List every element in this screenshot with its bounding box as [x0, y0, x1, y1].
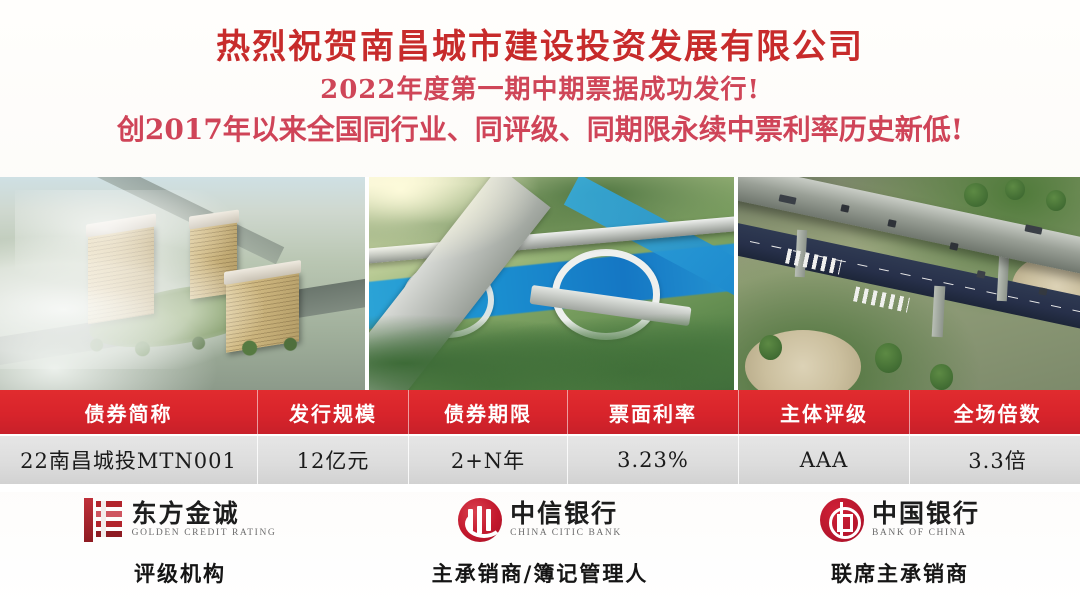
table-cell-issue-size: 12亿元 [258, 436, 409, 484]
citic-bank-role: 主承销商/簿记管理人 [432, 558, 649, 588]
headline-line-1: 热烈祝贺南昌城市建设投资发展有限公司 [0, 26, 1080, 68]
table-cell-issuer-rating: AAA [739, 436, 910, 484]
table-header-cell-bond-term: 债券期限 [409, 390, 568, 434]
photo-urban-elevated-road [738, 177, 1080, 390]
bank-of-china-name-en: BANK OF CHINA [872, 527, 980, 540]
table-header-cell-issuer-rating: 主体评级 [739, 390, 910, 434]
headline-line-2: 2022年度第一期中期票据成功发行! [0, 71, 1080, 109]
bond-summary-table: 债券简称 发行规模 债券期限 票面利率 主体评级 全场倍数 22南昌城投MTN0… [0, 390, 1080, 492]
golden-credit-rating-name-en: GOLDEN CREDIT RATING [132, 527, 277, 540]
partner-footer: 东方金诚 GOLDEN CREDIT RATING 评级机构 中信银行 CHIN… [0, 490, 1080, 608]
photo-residential-towers-aerial [0, 177, 365, 390]
citic-bank-mark-icon [458, 498, 502, 542]
table-row: 22南昌城投MTN001 12亿元 2+N年 3.23% AAA 3.3倍 [0, 434, 1080, 484]
partner-citic-bank: 中信银行 CHINA CITIC BANK 主承销商/簿记管理人 [360, 490, 720, 608]
bank-of-china-logo: 中国银行 BANK OF CHINA [820, 496, 980, 544]
golden-credit-rating-role: 评级机构 [134, 558, 226, 588]
table-cell-bond-term: 2+N年 [409, 436, 568, 484]
partner-golden-credit-rating: 东方金诚 GOLDEN CREDIT RATING 评级机构 [0, 490, 360, 608]
table-header-cell-bond-name: 债券简称 [0, 390, 258, 434]
table-cell-subscription-multiple: 3.3倍 [910, 436, 1080, 484]
table-cell-bond-name: 22南昌城投MTN001 [0, 436, 258, 484]
citic-bank-name-en: CHINA CITIC BANK [510, 527, 622, 540]
table-header-cell-subscription-multiple: 全场倍数 [910, 390, 1080, 434]
bond-issuance-poster: 热烈祝贺南昌城市建设投资发展有限公司 2022年度第一期中期票据成功发行! 创2… [0, 0, 1080, 608]
citic-bank-logo: 中信银行 CHINA CITIC BANK [458, 496, 622, 544]
headline-block: 热烈祝贺南昌城市建设投资发展有限公司 2022年度第一期中期票据成功发行! 创2… [0, 0, 1080, 150]
table-header-cell-issue-size: 发行规模 [258, 390, 409, 434]
golden-credit-rating-mark-icon [84, 498, 124, 542]
photo-highway-interchange-river [369, 177, 734, 390]
photo-strip [0, 177, 1080, 390]
headline-line-3: 创2017年以来全国同行业、同评级、同期限永续中票利率历史新低! [0, 110, 1080, 150]
bank-of-china-role: 联席主承销商 [831, 558, 969, 588]
bank-of-china-name-cn: 中国银行 [872, 501, 980, 527]
golden-credit-rating-logo: 东方金诚 GOLDEN CREDIT RATING [84, 496, 277, 544]
table-header-cell-coupon-rate: 票面利率 [568, 390, 739, 434]
citic-bank-name-cn: 中信银行 [510, 501, 622, 527]
table-cell-coupon-rate: 3.23% [568, 436, 739, 484]
table-header-row: 债券简称 发行规模 债券期限 票面利率 主体评级 全场倍数 [0, 390, 1080, 434]
partner-bank-of-china: 中国银行 BANK OF CHINA 联席主承销商 [720, 490, 1080, 608]
bank-of-china-mark-icon [820, 498, 864, 542]
golden-credit-rating-name-cn: 东方金诚 [132, 501, 277, 527]
